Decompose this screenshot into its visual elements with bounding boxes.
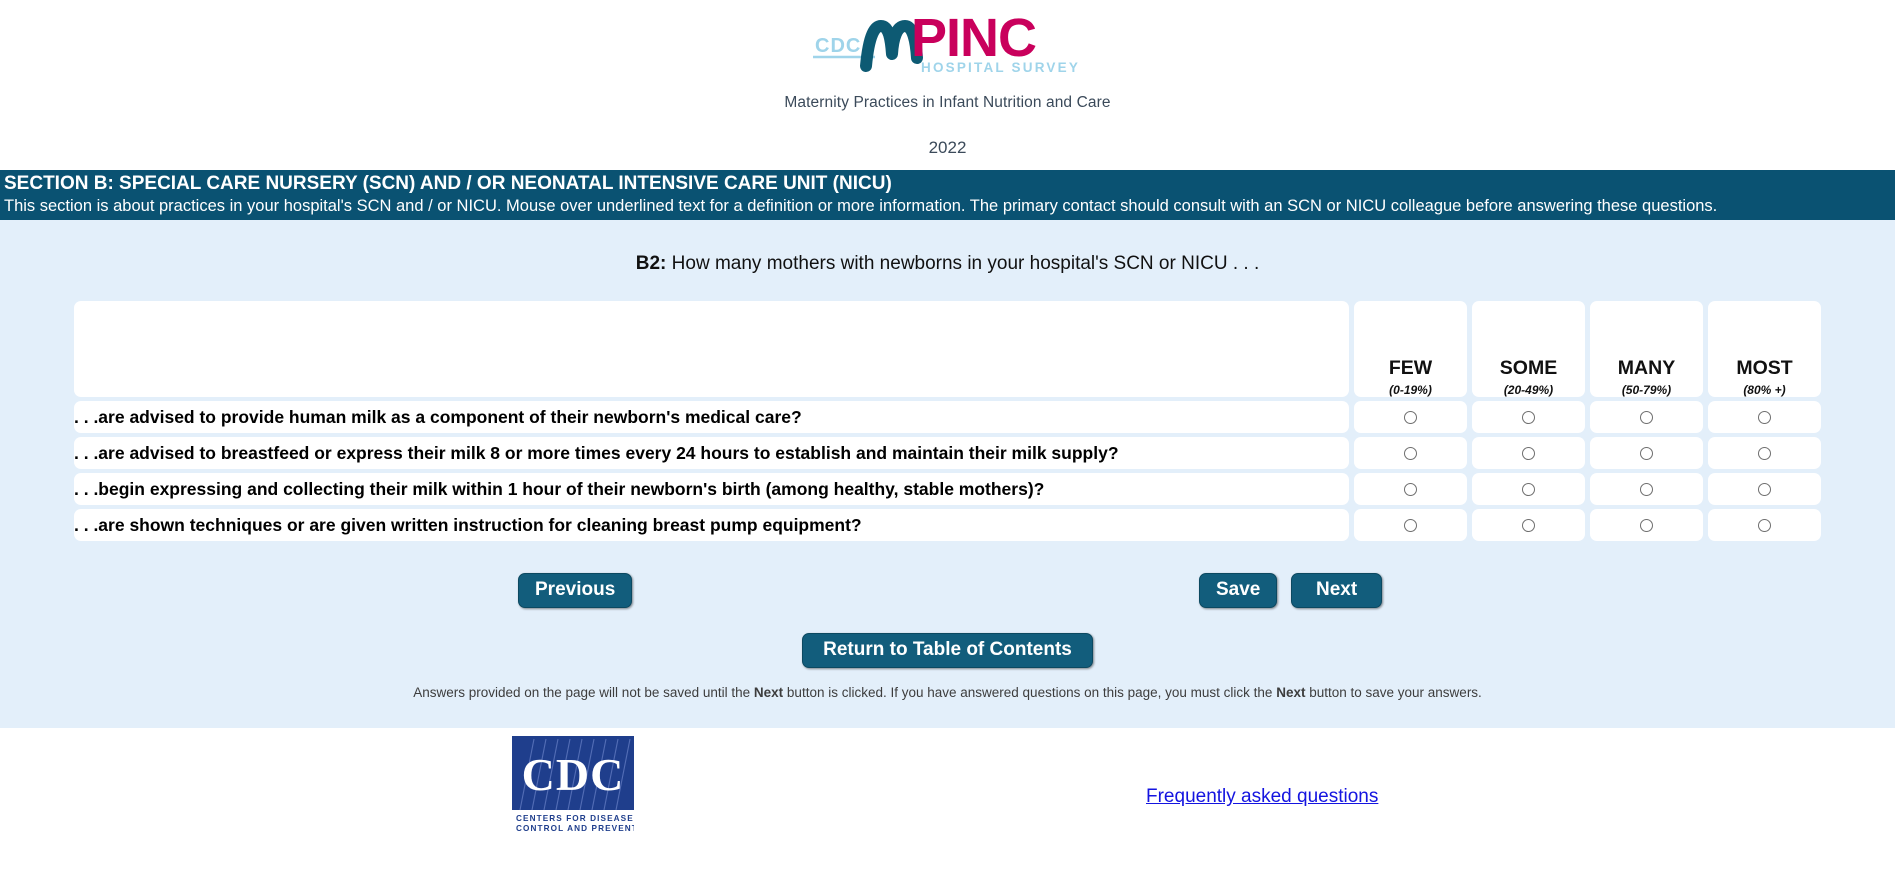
radio-r3-few[interactable] bbox=[1404, 483, 1417, 496]
column-label-few: FEW bbox=[1354, 358, 1467, 379]
row-question-2: . . .are advised to breastfeed or expres… bbox=[74, 437, 1349, 469]
cdc-logo-letters: CDC bbox=[522, 749, 625, 800]
radio-r3-most[interactable] bbox=[1758, 483, 1771, 496]
column-range-most: (80% +) bbox=[1708, 383, 1821, 397]
radio-cell-r3-many[interactable] bbox=[1590, 473, 1703, 505]
radio-r1-many[interactable] bbox=[1640, 411, 1653, 424]
matrix-column-some: SOME (20-49%) bbox=[1472, 301, 1585, 397]
radio-r1-few[interactable] bbox=[1404, 411, 1417, 424]
logo-hospital-survey-text: HOSPITAL SURVEY bbox=[921, 60, 1080, 75]
radio-r4-few[interactable] bbox=[1404, 519, 1417, 532]
radio-cell-r2-many[interactable] bbox=[1590, 437, 1703, 469]
radio-cell-r1-many[interactable] bbox=[1590, 401, 1703, 433]
response-matrix: FEW (0-19%) SOME (20-49%) MANY (50-79%) … bbox=[69, 297, 1826, 545]
radio-cell-r4-few[interactable] bbox=[1354, 509, 1467, 541]
radio-cell-r3-some[interactable] bbox=[1472, 473, 1585, 505]
save-note-bold2: Next bbox=[1276, 685, 1305, 700]
radio-cell-r2-few[interactable] bbox=[1354, 437, 1467, 469]
save-note-part1: Answers provided on the page will not be… bbox=[413, 685, 754, 700]
next-button[interactable]: Next bbox=[1291, 573, 1382, 608]
survey-year: 2022 bbox=[0, 138, 1895, 158]
column-range-some: (20-49%) bbox=[1472, 383, 1585, 397]
save-note-part2: button is clicked. If you have answered … bbox=[783, 685, 1276, 700]
matrix-header-row: FEW (0-19%) SOME (20-49%) MANY (50-79%) … bbox=[74, 301, 1821, 397]
question-prompt: B2: How many mothers with newborns in yo… bbox=[0, 220, 1895, 297]
navigation-button-row: Previous Save Next bbox=[75, 573, 1820, 611]
column-range-many: (50-79%) bbox=[1590, 383, 1703, 397]
cdc-logo-line1: CENTERS FOR DISEASE bbox=[516, 814, 634, 823]
logo-m-mark bbox=[866, 26, 917, 66]
save-note-bold1: Next bbox=[754, 685, 783, 700]
row-question-3: . . .begin expressing and collecting the… bbox=[74, 473, 1349, 505]
question-number: B2: bbox=[636, 253, 667, 274]
section-header-band: SECTION B: SPECIAL CARE NURSERY (SCN) AN… bbox=[0, 170, 1895, 220]
row-question-1: . . .are advised to provide human milk a… bbox=[74, 401, 1349, 433]
matrix-column-many: MANY (50-79%) bbox=[1590, 301, 1703, 397]
row-question-4: . . .are shown techniques or are given w… bbox=[74, 509, 1349, 541]
cdc-logo-graphic: CDC CENTERS FOR DISEASE CONTROL AND PREV… bbox=[512, 736, 634, 834]
matrix-column-few: FEW (0-19%) bbox=[1354, 301, 1467, 397]
radio-r2-many[interactable] bbox=[1640, 447, 1653, 460]
radio-cell-r4-many[interactable] bbox=[1590, 509, 1703, 541]
question-text: How many mothers with newborns in your h… bbox=[672, 253, 1260, 274]
radio-r3-many[interactable] bbox=[1640, 483, 1653, 496]
radio-r4-most[interactable] bbox=[1758, 519, 1771, 532]
radio-cell-r4-some[interactable] bbox=[1472, 509, 1585, 541]
column-range-few: (0-19%) bbox=[1354, 383, 1467, 397]
previous-button[interactable]: Previous bbox=[518, 573, 632, 608]
radio-r4-some[interactable] bbox=[1522, 519, 1535, 532]
radio-cell-r3-few[interactable] bbox=[1354, 473, 1467, 505]
column-label-most: MOST bbox=[1708, 358, 1821, 379]
cdc-logo-line2: CONTROL AND PREVENTION bbox=[516, 824, 634, 833]
page-header: CDC PINC HOSPITAL SURVEY Maternity Pract… bbox=[0, 0, 1895, 158]
radio-r2-most[interactable] bbox=[1758, 447, 1771, 460]
column-label-many: MANY bbox=[1590, 358, 1703, 379]
table-row: . . .are advised to provide human milk a… bbox=[74, 401, 1821, 433]
radio-cell-r2-some[interactable] bbox=[1472, 437, 1585, 469]
radio-r2-few[interactable] bbox=[1404, 447, 1417, 460]
save-note-part3: button to save your answers. bbox=[1305, 685, 1481, 700]
radio-r4-many[interactable] bbox=[1640, 519, 1653, 532]
matrix-corner-cell bbox=[74, 301, 1349, 397]
cdc-logo: CDC CENTERS FOR DISEASE CONTROL AND PREV… bbox=[512, 736, 634, 834]
radio-cell-r4-most[interactable] bbox=[1708, 509, 1821, 541]
table-row: . . .are advised to breastfeed or expres… bbox=[74, 437, 1821, 469]
logo-tagline: Maternity Practices in Infant Nutrition … bbox=[0, 94, 1895, 112]
logo-cdc-text: CDC bbox=[815, 35, 861, 57]
faq-link[interactable]: Frequently asked questions bbox=[1146, 786, 1378, 808]
radio-cell-r3-most[interactable] bbox=[1708, 473, 1821, 505]
return-to-table-of-contents-button[interactable]: Return to Table of Contents bbox=[802, 633, 1093, 668]
radio-cell-r1-most[interactable] bbox=[1708, 401, 1821, 433]
table-row: . . .are shown techniques or are given w… bbox=[74, 509, 1821, 541]
mpinc-logo: CDC PINC HOSPITAL SURVEY bbox=[813, 10, 1083, 88]
radio-r1-some[interactable] bbox=[1522, 411, 1535, 424]
radio-cell-r1-few[interactable] bbox=[1354, 401, 1467, 433]
save-button[interactable]: Save bbox=[1199, 573, 1277, 608]
section-subtitle: This section is about practices in your … bbox=[4, 196, 1891, 217]
table-row: . . .begin expressing and collecting the… bbox=[74, 473, 1821, 505]
survey-content: B2: How many mothers with newborns in yo… bbox=[0, 220, 1895, 728]
toc-button-row: Return to Table of Contents bbox=[0, 633, 1895, 668]
section-title: SECTION B: SPECIAL CARE NURSERY (SCN) AN… bbox=[4, 172, 1891, 196]
column-label-some: SOME bbox=[1472, 358, 1585, 379]
survey-page: CDC PINC HOSPITAL SURVEY Maternity Pract… bbox=[0, 0, 1895, 882]
radio-cell-r1-some[interactable] bbox=[1472, 401, 1585, 433]
radio-cell-r2-most[interactable] bbox=[1708, 437, 1821, 469]
save-warning-note: Answers provided on the page will not be… bbox=[0, 685, 1895, 700]
radio-r1-most[interactable] bbox=[1758, 411, 1771, 424]
page-footer: CDC CENTERS FOR DISEASE CONTROL AND PREV… bbox=[0, 728, 1895, 848]
matrix-column-most: MOST (80% +) bbox=[1708, 301, 1821, 397]
mpinc-logo-graphic: CDC PINC HOSPITAL SURVEY bbox=[813, 10, 1083, 88]
radio-r3-some[interactable] bbox=[1522, 483, 1535, 496]
radio-r2-some[interactable] bbox=[1522, 447, 1535, 460]
